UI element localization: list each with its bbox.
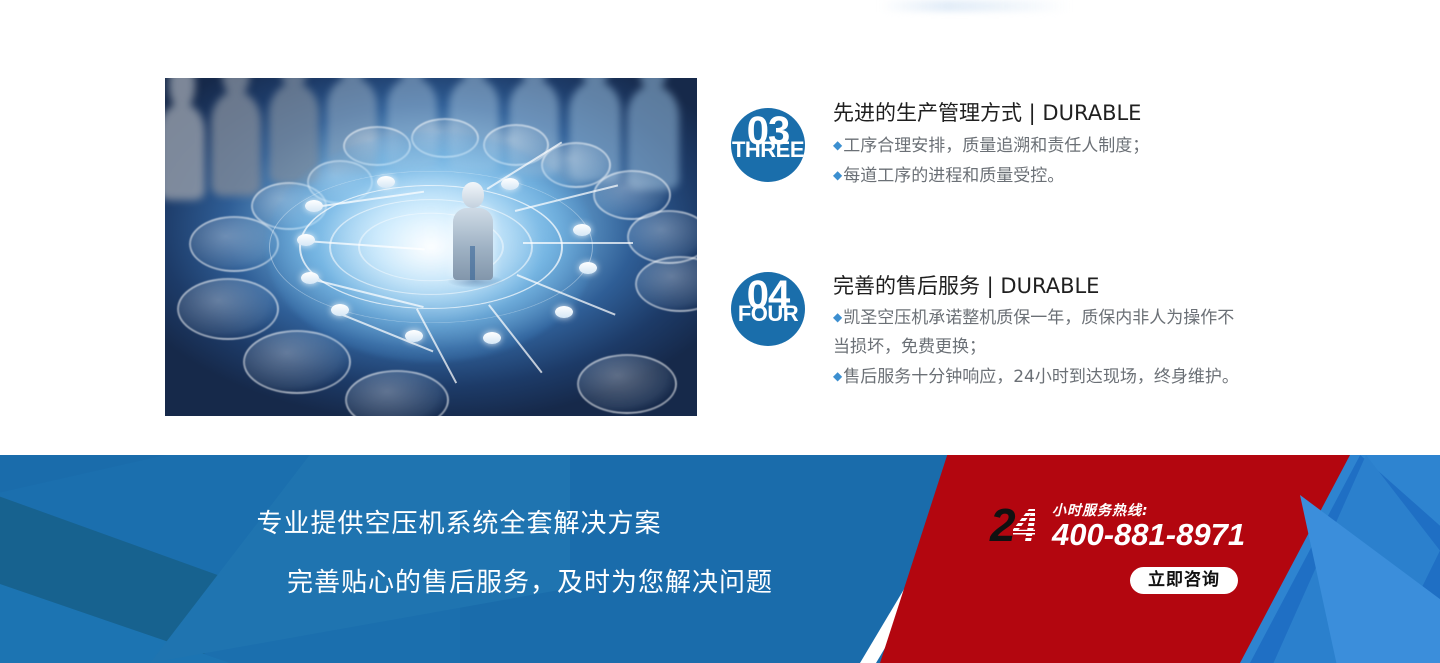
central-person-head-icon xyxy=(462,182,484,208)
gear-shape xyxy=(345,370,449,416)
network-node xyxy=(573,224,591,236)
hotline-digit-4: 4 xyxy=(1013,499,1036,551)
diamond-bullet-icon: ◆ xyxy=(833,310,842,324)
hotline-digit-2: 2 xyxy=(990,499,1013,551)
network-node xyxy=(305,200,323,212)
feature-title-04: 完善的售后服务 | DURABLE xyxy=(833,270,1099,300)
hotline-block: 24 小时服务热线: 400-881-8971 xyxy=(990,500,1350,562)
feature-line-text: 每道工序的进程和质量受控。 xyxy=(843,166,1064,186)
gear-shape xyxy=(635,256,697,312)
network-illustration xyxy=(165,78,697,416)
network-node xyxy=(377,176,395,188)
badge-04: 04 FOUR xyxy=(731,272,805,346)
diamond-bullet-icon: ◆ xyxy=(833,138,842,152)
network-node xyxy=(579,262,597,274)
diamond-bullet-icon: ◆ xyxy=(833,168,842,182)
network-node xyxy=(331,304,349,316)
hotline-24-number: 24 xyxy=(990,502,1035,548)
hotline-panel: 24 小时服务热线: 400-881-8971 立即咨询 xyxy=(900,455,1440,663)
banner-headline: 专业提供空压机系统全套解决方案 完善贴心的售后服务，及时为您解决问题 xyxy=(0,503,900,599)
feature-bullet-line: ◆售后服务十分钟响应，24小时到达现场，终身维护。 xyxy=(833,362,1239,392)
gear-shape xyxy=(177,278,279,340)
gear-shape xyxy=(577,354,677,414)
bottom-cta-banner: 专业提供空压机系统全套解决方案 完善贴心的售后服务，及时为您解决问题 24 小时… xyxy=(0,455,1440,663)
feature-bullet-line: ◆凯圣空压机承诺整机质保一年，质保内非人为操作不当损坏，免费更换； xyxy=(833,303,1239,362)
central-person-legs-gap xyxy=(470,246,475,280)
banner-headline-line1: 专业提供空压机系统全套解决方案 xyxy=(0,503,900,540)
diamond-bullet-icon: ◆ xyxy=(833,369,842,383)
connector-line xyxy=(523,242,633,244)
network-node xyxy=(483,332,501,344)
crowd-silhouette xyxy=(211,92,261,196)
feature-line-text: 售后服务十分钟响应，24小时到达现场，终身维护。 xyxy=(843,367,1239,387)
badge-word: THREE xyxy=(731,138,805,162)
network-node xyxy=(301,272,319,284)
top-edge-artifact xyxy=(880,0,1070,12)
network-node xyxy=(297,234,315,246)
content-area: 03 THREE 先进的生产管理方式 | DURABLE ◆工序合理安排，质量追… xyxy=(0,0,1440,455)
network-node xyxy=(405,330,423,342)
crowd-silhouette xyxy=(165,104,205,200)
feature-body-04: ◆凯圣空压机承诺整机质保一年，质保内非人为操作不当损坏，免费更换； ◆售后服务十… xyxy=(833,303,1239,392)
feature-bullet-line: ◆每道工序的进程和质量受控。 xyxy=(833,161,1253,191)
consult-now-button[interactable]: 立即咨询 xyxy=(1130,567,1238,594)
network-node xyxy=(501,178,519,190)
hotline-phone-number[interactable]: 400-881-8971 xyxy=(1052,518,1245,552)
feature-line-text: 工序合理安排，质量追溯和责任人制度； xyxy=(843,136,1149,156)
network-node xyxy=(555,306,573,318)
feature-title-03: 先进的生产管理方式 | DURABLE xyxy=(833,97,1141,127)
feature-line-text: 凯圣空压机承诺整机质保一年，质保内非人为操作不当损坏，免费更换； xyxy=(833,308,1234,357)
badge-03: 03 THREE xyxy=(731,108,805,182)
badge-word: FOUR xyxy=(731,302,805,326)
banner-headline-line2: 完善贴心的售后服务，及时为您解决问题 xyxy=(0,562,900,599)
feature-bullet-line: ◆工序合理安排，质量追溯和责任人制度； xyxy=(833,131,1253,161)
feature-body-03: ◆工序合理安排，质量追溯和责任人制度； ◆每道工序的进程和质量受控。 xyxy=(833,131,1253,191)
